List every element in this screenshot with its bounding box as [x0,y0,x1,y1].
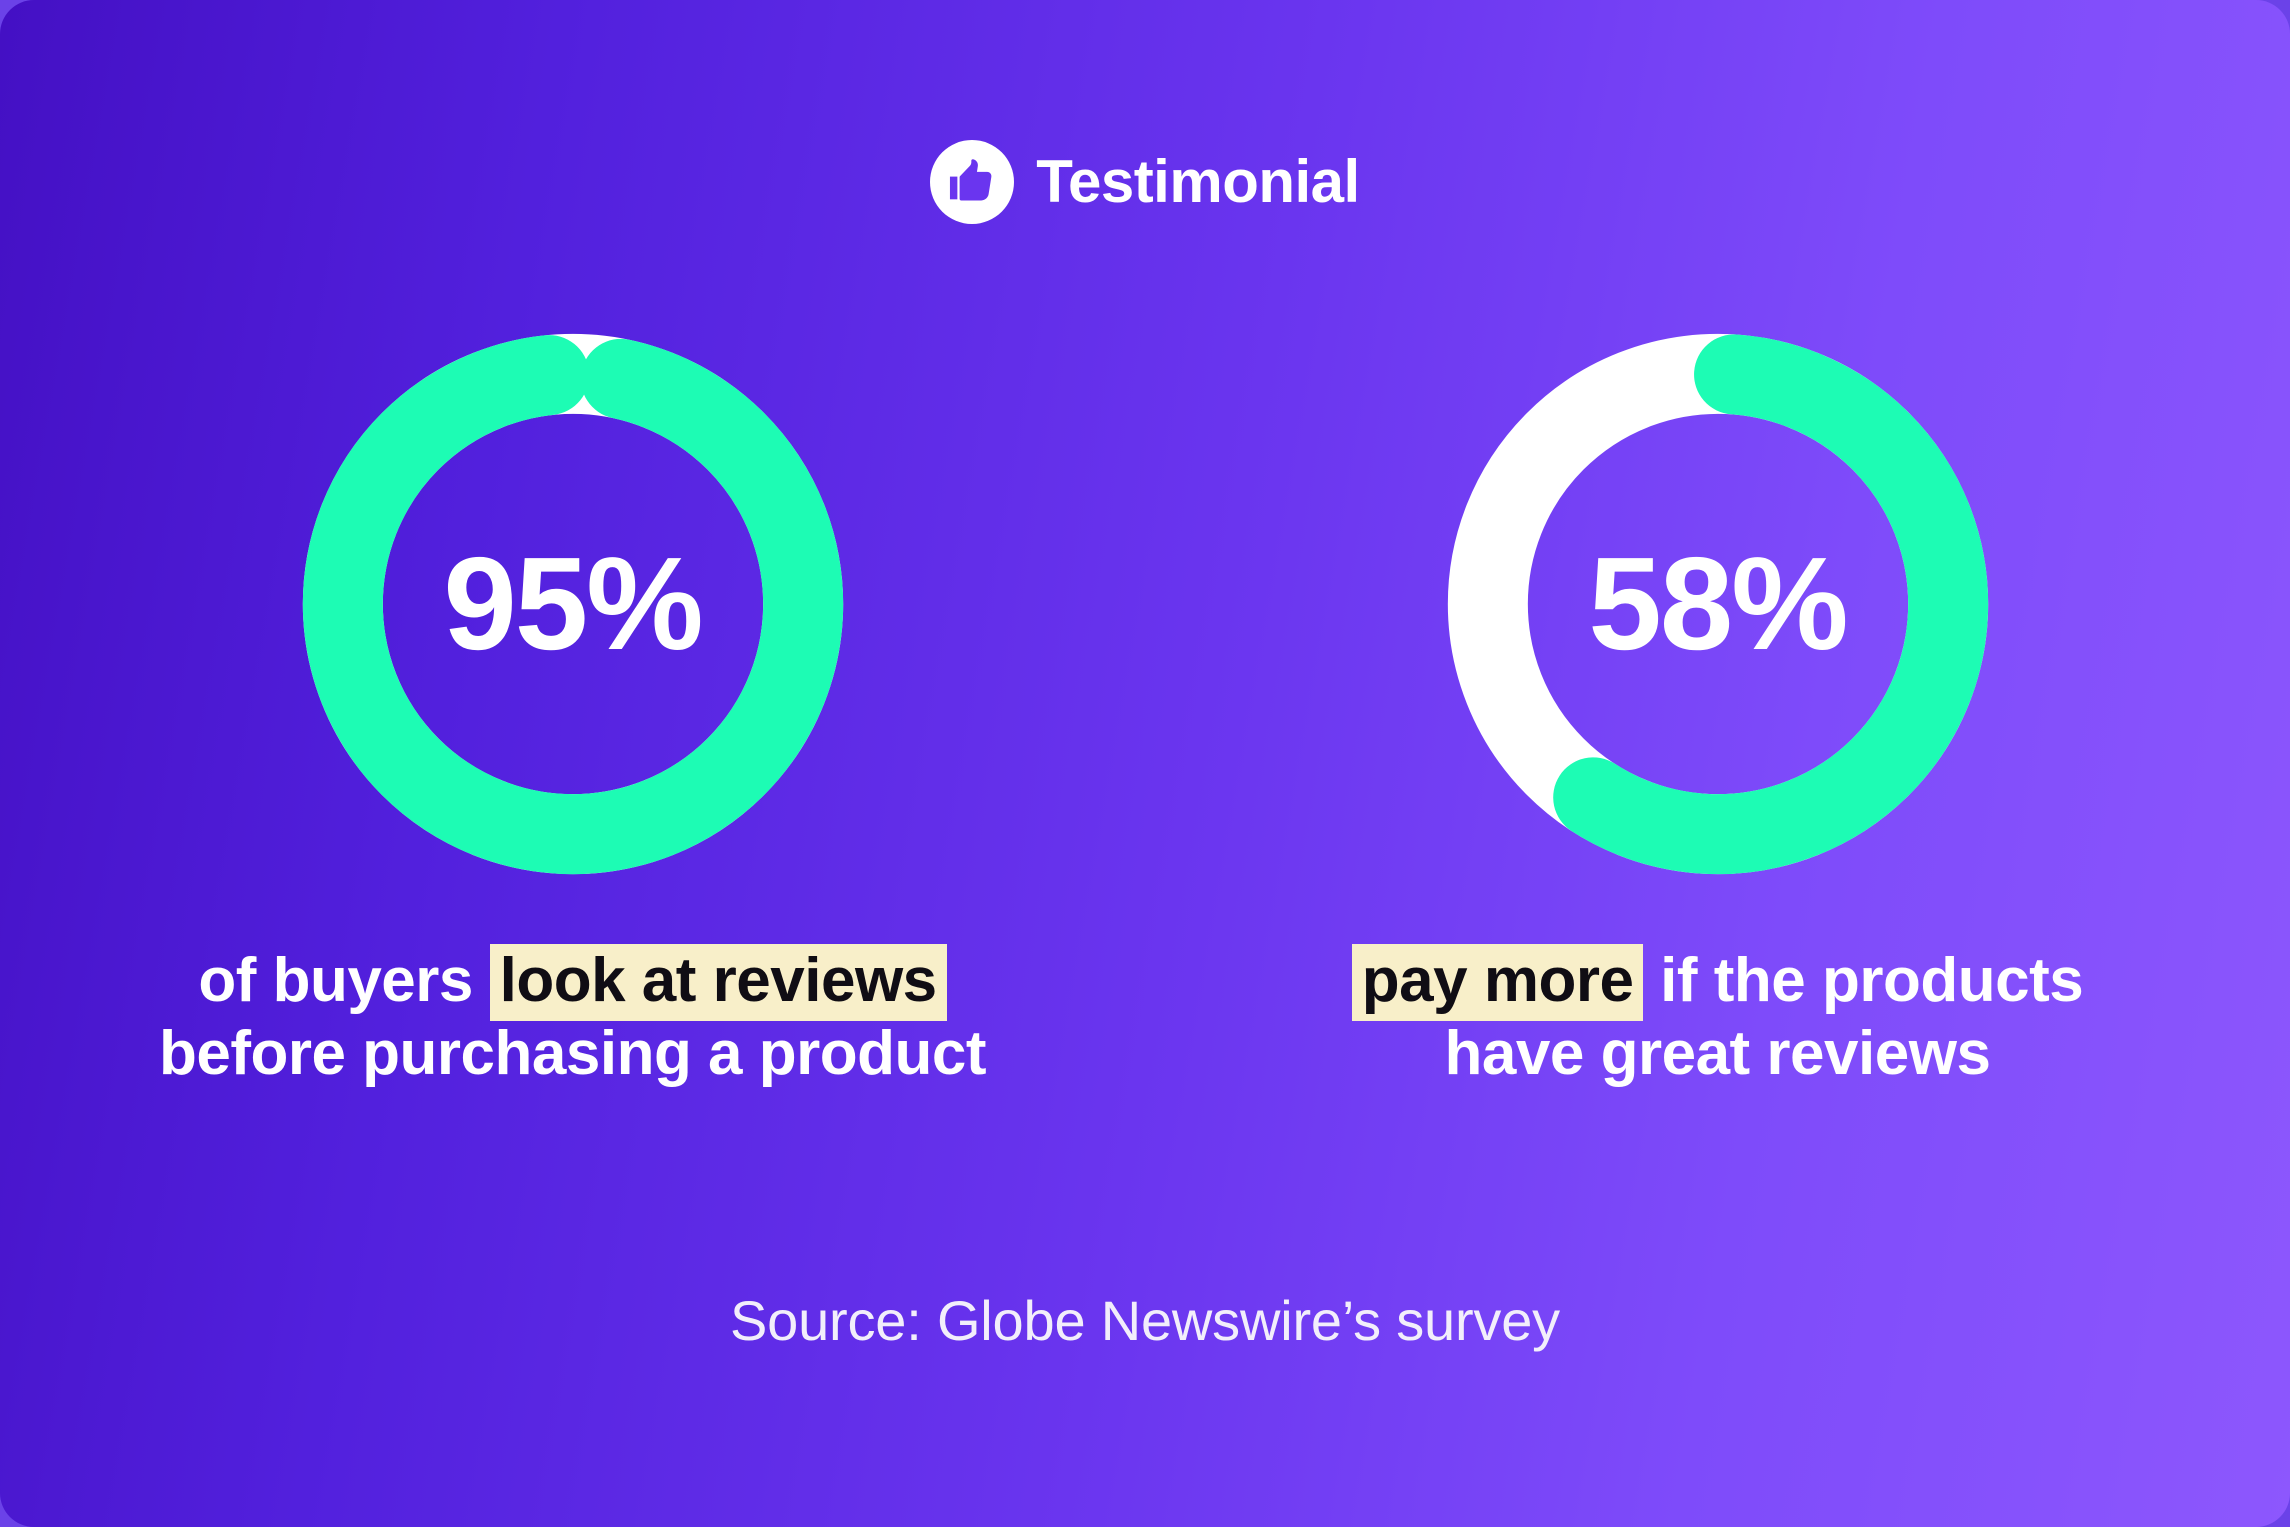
caption-right-line2: have great reviews [1145,1017,2290,1090]
caption-left-highlight: look at reviews [490,944,947,1021]
caption-right-post: if the products [1643,946,2083,1015]
caption-right-line1: pay more if the products [1145,944,2290,1017]
caption-left-pre: of buyers [198,946,489,1015]
caption-left-line2: before purchasing a product [0,1017,1145,1090]
stat-block-right: 58% pay more if the products have great … [1145,330,2290,1090]
source-attribution: Source: Globe Newswire’s survey [0,1288,2290,1353]
stat-block-left: 95% of buyers look at reviews before pur… [0,330,1145,1090]
caption-right: pay more if the products have great revi… [1145,944,2290,1090]
caption-left-line1: of buyers look at reviews [0,944,1145,1017]
stats-row: 95% of buyers look at reviews before pur… [0,330,2290,1090]
donut-chart-95: 95% [299,330,847,878]
thumbs-up-icon [930,140,1014,224]
caption-right-highlight: pay more [1352,944,1644,1021]
header: Testimonial [0,140,2290,224]
donut-value-58: 58% [1444,330,1992,878]
donut-value-95: 95% [299,330,847,878]
donut-chart-58: 58% [1444,330,1992,878]
caption-left: of buyers look at reviews before purchas… [0,944,1145,1090]
header-title: Testimonial [1036,152,1359,212]
testimonial-infographic-card: Testimonial 95% of buyers look at review… [0,0,2290,1527]
